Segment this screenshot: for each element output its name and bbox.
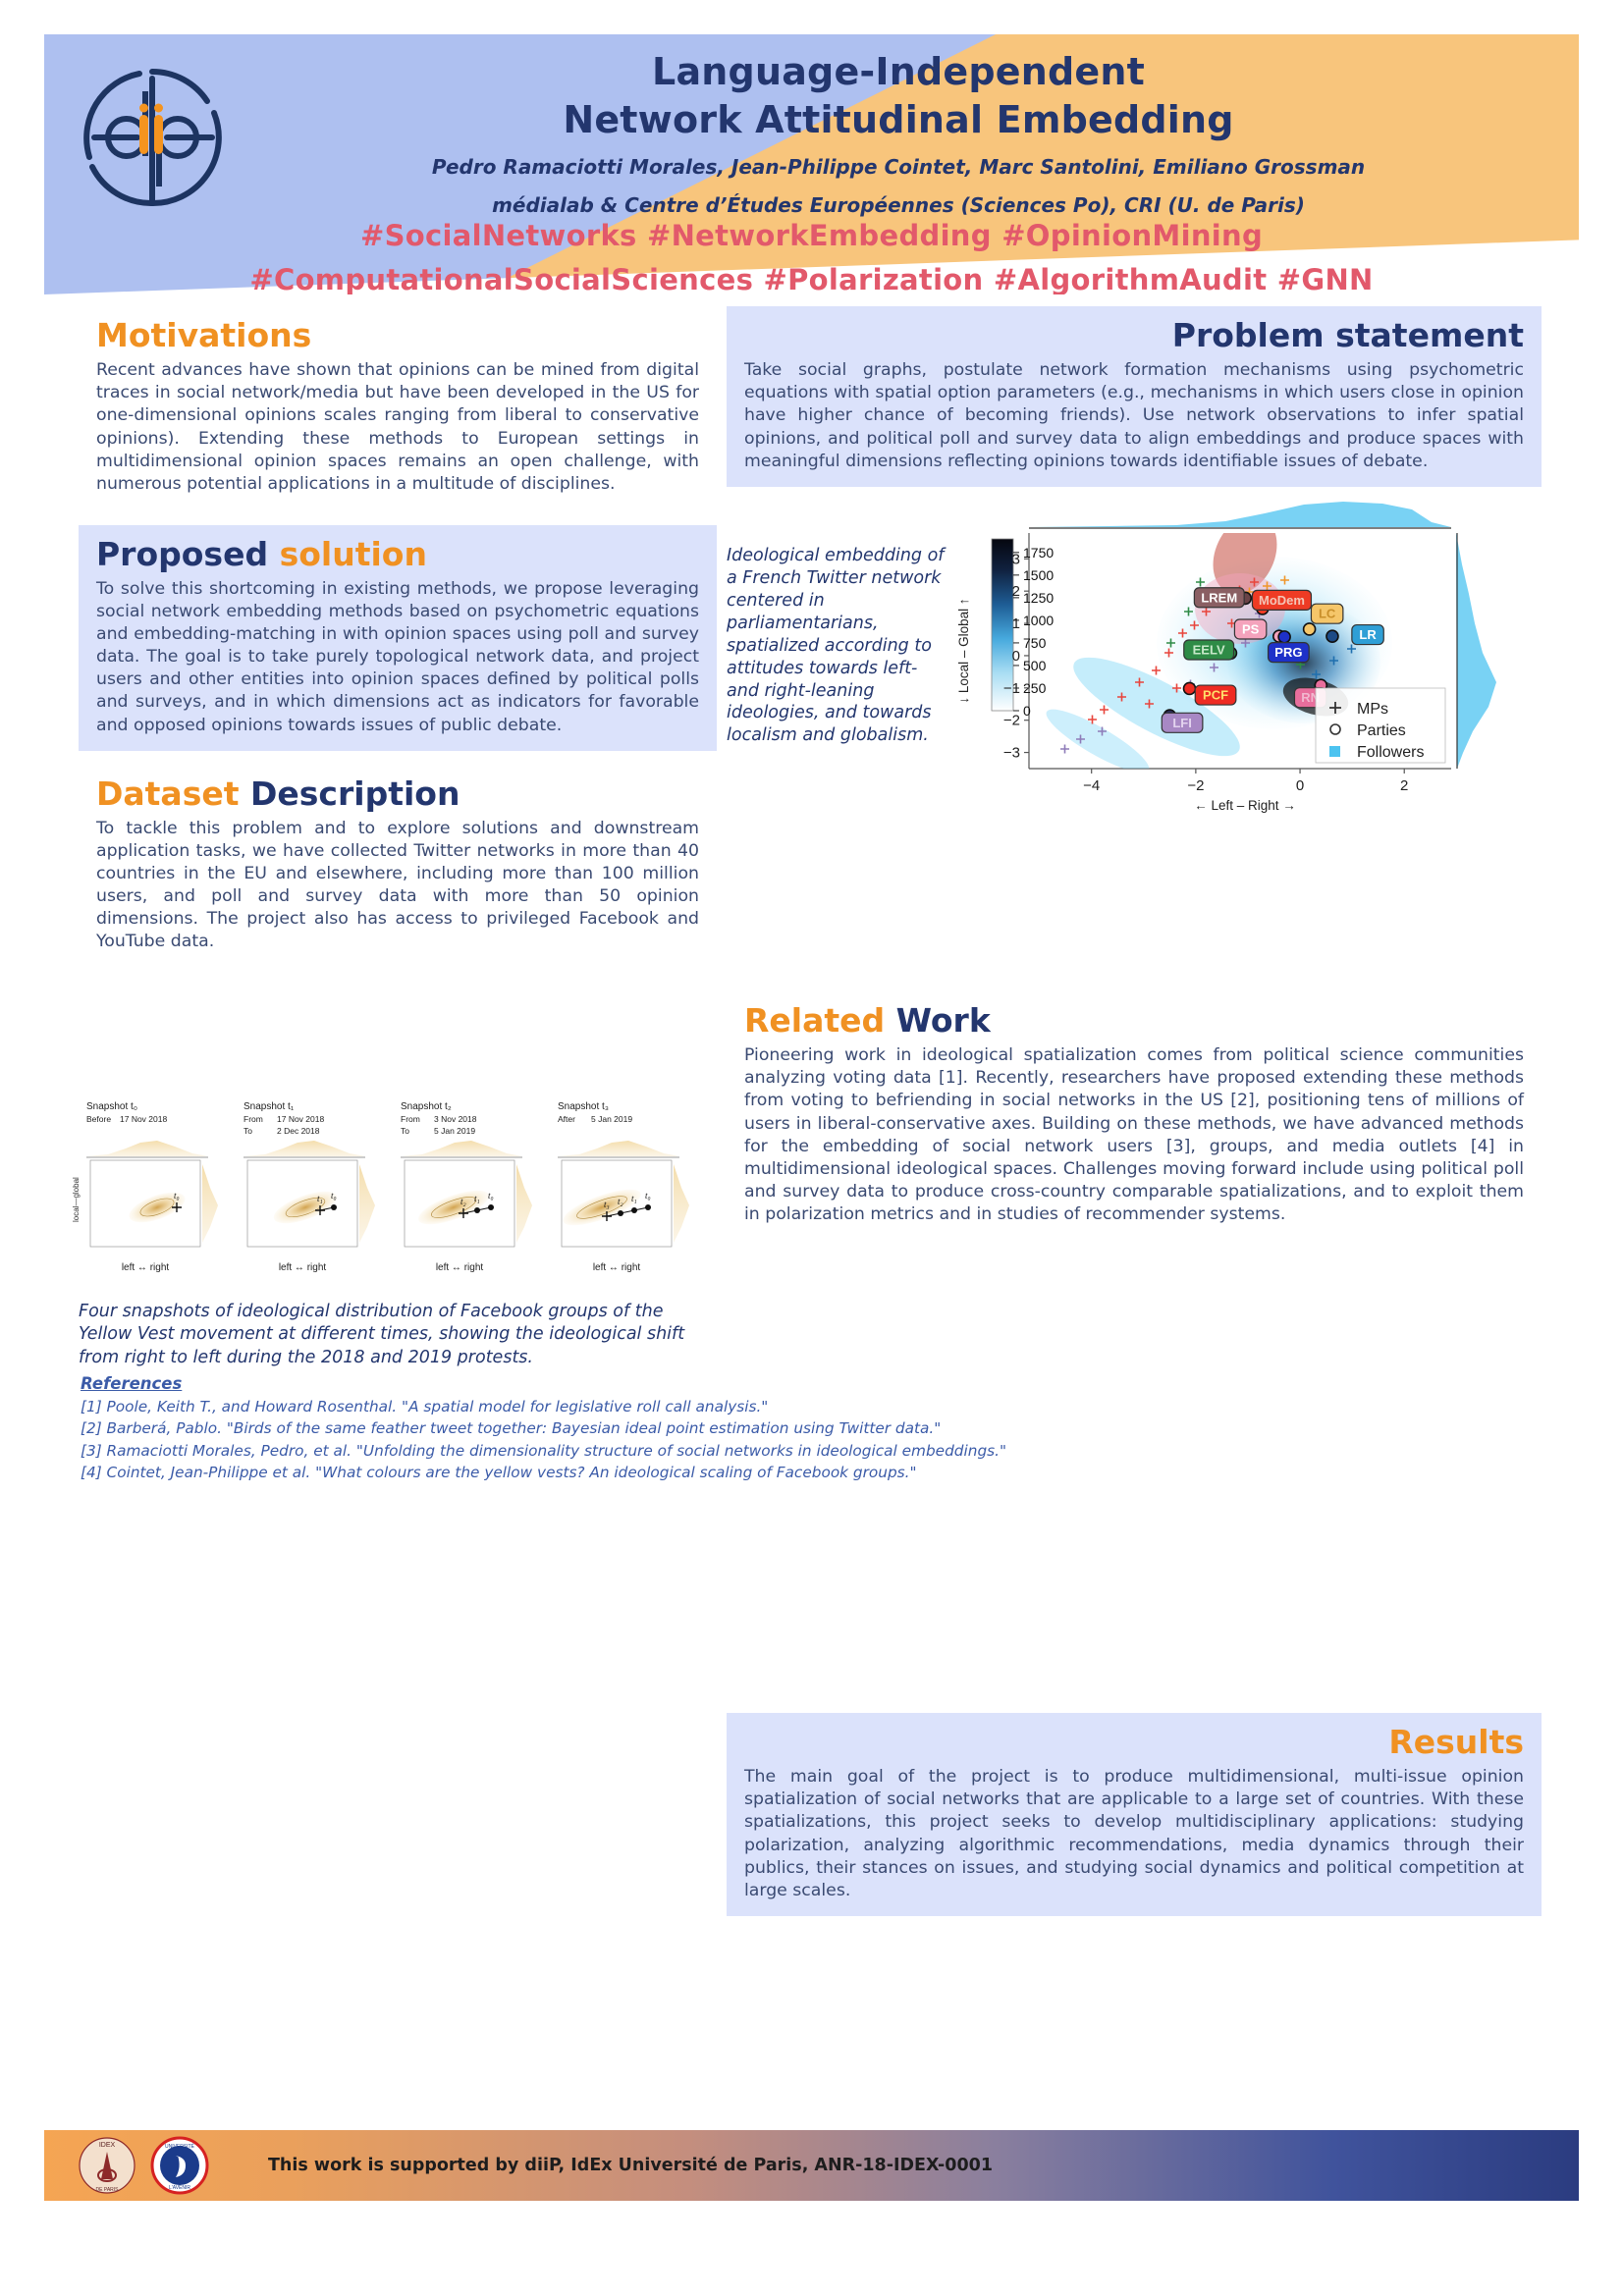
section-problem-statement: Problem statement Take social graphs, po… <box>727 306 1542 487</box>
section-related-work: Related Work Pioneering work in ideologi… <box>727 999 1542 1240</box>
hashtags-line-2: #ComputationalSocialSciences #Polarizati… <box>44 263 1579 294</box>
dataset-heading-orange: Dataset <box>96 774 240 813</box>
results-heading: Results <box>744 1725 1524 1760</box>
section-proposed-solution: Proposed solution To solve this shortcom… <box>79 525 717 751</box>
colorbar-tick-label: 1500 <box>1023 567 1054 583</box>
motivations-heading-orange: Motivations <box>96 316 311 354</box>
snapshot-title: Snapshot t₀ <box>86 1101 137 1112</box>
snapshot-right-marginal <box>359 1164 375 1243</box>
svg-text:LFI: LFI <box>1172 716 1192 730</box>
snapshot-top-marginal <box>86 1141 208 1156</box>
problem-statement-heading: Problem statement <box>744 318 1524 353</box>
y-tick-label: −3 <box>1003 745 1020 762</box>
snapshot-panel-3: Snapshot t₃After5 Jan 2019t₀t₁t₂t₃left ↔… <box>558 1101 689 1273</box>
title-line-2: Network Attitudinal Embedding <box>241 96 1556 144</box>
snapshot-date-value: 3 Nov 2018 <box>434 1114 477 1124</box>
poster-footer: IDEX DE PARIS UNIVERSITÉ L'AVENIR This w… <box>44 2130 1579 2201</box>
problem-statement-heading-blue: Problem statement <box>1172 316 1524 354</box>
idex-universite-paris-logo-icon: IDEX DE PARIS <box>78 2136 136 2195</box>
snapshot-date-label: From <box>401 1114 420 1124</box>
proposed-solution-body: To solve this shortcoming in existing me… <box>96 578 699 737</box>
snapshot-date-label: Before <box>86 1114 111 1124</box>
snapshot-marker-label: t₁ <box>474 1194 480 1203</box>
reference-item: [3] Ramaciotti Morales, Pedro, et al. "U… <box>81 1440 1534 1462</box>
plot-legend: MPsPartiesFollowers <box>1316 688 1445 763</box>
svg-text:PRG: PRG <box>1274 645 1302 660</box>
snapshot-title: Snapshot t₁ <box>243 1101 295 1112</box>
right-column: Problem statement Take social graphs, po… <box>727 306 1542 487</box>
snapshot-density-blob <box>414 1184 493 1232</box>
references-title: References <box>81 1374 1534 1393</box>
y-tick-label: 1 <box>1012 615 1020 632</box>
proposed-solution-heading-blue: Proposed <box>96 535 268 573</box>
party-label-ps: PS <box>1234 619 1266 639</box>
party-point-pcf <box>1184 682 1196 694</box>
left-column: Motivations Recent advances have shown t… <box>79 306 717 967</box>
title-line-1: Language-Independent <box>241 48 1556 96</box>
snapshot-x-axis-label: left ↔ right <box>279 1262 327 1273</box>
snapshot-x-axis-label: left ↔ right <box>593 1262 641 1273</box>
snapshot-date-label: To <box>243 1126 252 1136</box>
x-tick-label: 2 <box>1400 777 1408 794</box>
funding-statement: This work is supported by diiP, IdEx Uni… <box>268 2156 993 2175</box>
snapshot-date-value: 17 Nov 2018 <box>277 1114 324 1124</box>
y-axis-label: ↓ Local – Global ↑ <box>956 598 971 703</box>
poster-header: Language-Independent Network Attitudinal… <box>44 34 1579 294</box>
svg-text:UNIVERSITÉ: UNIVERSITÉ <box>165 2143 195 2150</box>
references-block: References [1] Poole, Keith T., and Howa… <box>81 1374 1534 1483</box>
party-label-prg: PRG <box>1269 643 1310 663</box>
related-work-heading-orange: Related <box>744 1001 885 1040</box>
snapshot-panel-1: Snapshot t₁From17 Nov 2018To2 Dec 2018t₀… <box>243 1101 375 1273</box>
svg-text:PCF: PCF <box>1203 688 1228 703</box>
party-label-lfi: LFI <box>1162 713 1203 732</box>
snapshot-right-marginal <box>202 1164 218 1243</box>
party-label-modem: MoDem <box>1252 590 1311 610</box>
universite-paris-logo-icon: UNIVERSITÉ L'AVENIR <box>150 2136 209 2195</box>
results-heading-orange: Results <box>1388 1723 1524 1761</box>
colorbar-tick-label: 0 <box>1023 703 1031 719</box>
snapshot-top-marginal <box>558 1141 679 1156</box>
author-list: Pedro Ramaciotti Morales, Jean-Philippe … <box>241 152 1556 182</box>
snapshot-top-marginal <box>243 1141 365 1156</box>
section-motivations: Motivations Recent advances have shown t… <box>79 306 717 509</box>
snapshot-marker-label: t₁ <box>631 1194 637 1203</box>
snapshot-marker-label: t₁ <box>317 1194 323 1203</box>
snapshot-right-marginal <box>674 1164 689 1243</box>
snapshot-panel-2: Snapshot t₂From3 Nov 2018To5 Jan 2019t₀t… <box>401 1101 532 1273</box>
colorbar-tick-label: 1750 <box>1023 545 1054 561</box>
snapshot-right-marginal <box>516 1164 532 1243</box>
x-tick-label: −4 <box>1083 777 1100 794</box>
snapshot-date-value: 5 Jan 2019 <box>434 1126 475 1136</box>
colorbar-tick-label: 500 <box>1023 658 1047 673</box>
colorbar-tick-label: 1000 <box>1023 613 1054 628</box>
results-body: The main goal of the project is to produ… <box>744 1766 1524 1901</box>
hashtags-line-1: #SocialNetworks #NetworkEmbedding #Opini… <box>44 219 1579 252</box>
related-work-heading: Related Work <box>744 1003 1524 1039</box>
proposed-solution-heading: Proposed solution <box>96 537 699 572</box>
section-dataset-description: Dataset Description To tackle this probl… <box>79 765 717 968</box>
party-point-lr <box>1326 630 1338 642</box>
snapshot-date-value: 2 Dec 2018 <box>277 1126 320 1136</box>
party-point-prg <box>1278 631 1290 643</box>
top-marginal-histogram <box>1029 502 1451 527</box>
svg-text:LREM: LREM <box>1201 590 1237 605</box>
snapshot-marker-label: t₃ <box>604 1200 610 1209</box>
colorbar: 02505007501000125015001750 <box>992 539 1054 719</box>
motivations-body: Recent advances have shown that opinions… <box>96 359 699 495</box>
y-tick-label: 3 <box>1012 551 1020 567</box>
snapshot-marker-label: t₀ <box>331 1191 337 1201</box>
svg-text:LC: LC <box>1319 607 1336 621</box>
snapshot-date-value: 17 Nov 2018 <box>120 1114 167 1124</box>
svg-text:L'AVENIR: L'AVENIR <box>169 2185 190 2191</box>
party-label-lr: LR <box>1352 625 1383 645</box>
y-tick-label: −2 <box>1003 713 1020 729</box>
svg-text:IDEX: IDEX <box>99 2142 116 2149</box>
snapshot-date-value: 5 Jan 2019 <box>591 1114 632 1124</box>
dataset-heading-blue: Description <box>250 774 460 813</box>
ideological-embedding-svg: LREMMoDemLCPSLREELVPRGPCFRNLFI 025050075… <box>950 496 1540 834</box>
colorbar-tick-label: 1250 <box>1023 590 1054 606</box>
legend-label: Parties <box>1357 722 1406 739</box>
reference-item: [4] Cointet, Jean-Philippe et al. "What … <box>81 1462 1534 1483</box>
affiliation-list: médialab & Centre d’Études Européennes (… <box>241 190 1556 220</box>
problem-statement-body: Take social graphs, postulate network fo… <box>744 359 1524 472</box>
snapshot-x-axis-label: left ↔ right <box>436 1262 484 1273</box>
snapshots-y-axis-label: local—global <box>72 1177 81 1222</box>
proposed-solution-heading-orange: solution <box>280 535 427 573</box>
y-tick-label: 2 <box>1012 583 1020 600</box>
reference-item: [2] Barberá, Pablo. "Birds of the same f… <box>81 1417 1534 1439</box>
snapshot-date-label: After <box>558 1114 575 1124</box>
ideological-embedding-plot: LREMMoDemLCPSLREELVPRGPCFRNLFI 025050075… <box>950 496 1540 834</box>
svg-text:EELV: EELV <box>1193 643 1225 658</box>
dataset-description-heading: Dataset Description <box>96 776 699 812</box>
party-point-lc <box>1304 623 1316 635</box>
snapshot-marker-label: t₀ <box>174 1191 180 1201</box>
motivations-heading: Motivations <box>96 318 699 353</box>
related-work-heading-blue: Work <box>896 1001 991 1040</box>
snapshot-marker-label: t₂ <box>460 1197 466 1206</box>
y-tick-label: 0 <box>1012 648 1020 665</box>
snapshots-svg: local—global Snapshot t₀Before17 Nov 201… <box>69 1097 717 1294</box>
x-tick-label: 0 <box>1296 777 1304 794</box>
legend-label: MPs <box>1357 701 1388 718</box>
svg-text:DE PARIS: DE PARIS <box>96 2187 120 2193</box>
snapshot-date-label: From <box>243 1114 263 1124</box>
main-figure-caption: Ideological embedding of a French Twitte… <box>727 545 947 747</box>
x-tick-label: −2 <box>1187 777 1204 794</box>
snapshot-date-label: To <box>401 1126 409 1136</box>
snapshot-x-axis-label: left ↔ right <box>122 1262 170 1273</box>
party-label-lrem: LREM <box>1194 588 1244 608</box>
snapshot-marker-label: t₂ <box>618 1197 623 1206</box>
snapshot-marker-label: t₀ <box>488 1191 494 1201</box>
dataset-description-body: To tackle this problem and to explore so… <box>96 818 699 953</box>
snapshots-figure: local—global Snapshot t₀Before17 Nov 201… <box>69 1097 717 1294</box>
party-label-pcf: PCF <box>1195 685 1236 705</box>
x-axis-ticks: −4−202 <box>1083 769 1408 794</box>
svg-text:LR: LR <box>1359 627 1377 642</box>
x-axis-label: ← Left – Right → <box>1194 798 1296 813</box>
poster-title-block: Language-Independent Network Attitudinal… <box>241 48 1556 220</box>
party-label-lc: LC <box>1311 604 1342 623</box>
snapshot-title: Snapshot t₂ <box>401 1101 452 1112</box>
section-results: Results The main goal of the project is … <box>727 1713 1542 1916</box>
snapshot-marker-label: t₀ <box>645 1191 651 1201</box>
legend-label: Followers <box>1357 744 1424 761</box>
y-tick-label: −1 <box>1003 680 1020 697</box>
snapshots-caption: Four snapshots of ideological distributi… <box>79 1301 707 1369</box>
svg-text:MoDem: MoDem <box>1259 593 1305 608</box>
colorbar-tick-label: 750 <box>1023 635 1047 651</box>
snapshot-title: Snapshot t₃ <box>558 1101 609 1112</box>
main-figure: Ideological embedding of a French Twitte… <box>727 496 1542 839</box>
party-label-eelv: EELV <box>1184 640 1234 660</box>
reference-item: [1] Poole, Keith T., and Howard Rosentha… <box>81 1396 1534 1417</box>
snapshot-density-blob <box>559 1182 644 1232</box>
legend-marker-followers <box>1329 746 1340 757</box>
snapshot-top-marginal <box>401 1141 522 1156</box>
right-marginal-histogram <box>1456 533 1496 769</box>
svg-text:PS: PS <box>1242 621 1260 636</box>
snapshot-panel-0: Snapshot t₀Before17 Nov 2018t₀left ↔ rig… <box>86 1101 218 1273</box>
related-work-body: Pioneering work in ideological spatializ… <box>744 1044 1524 1226</box>
diip-logo-icon <box>79 64 226 211</box>
